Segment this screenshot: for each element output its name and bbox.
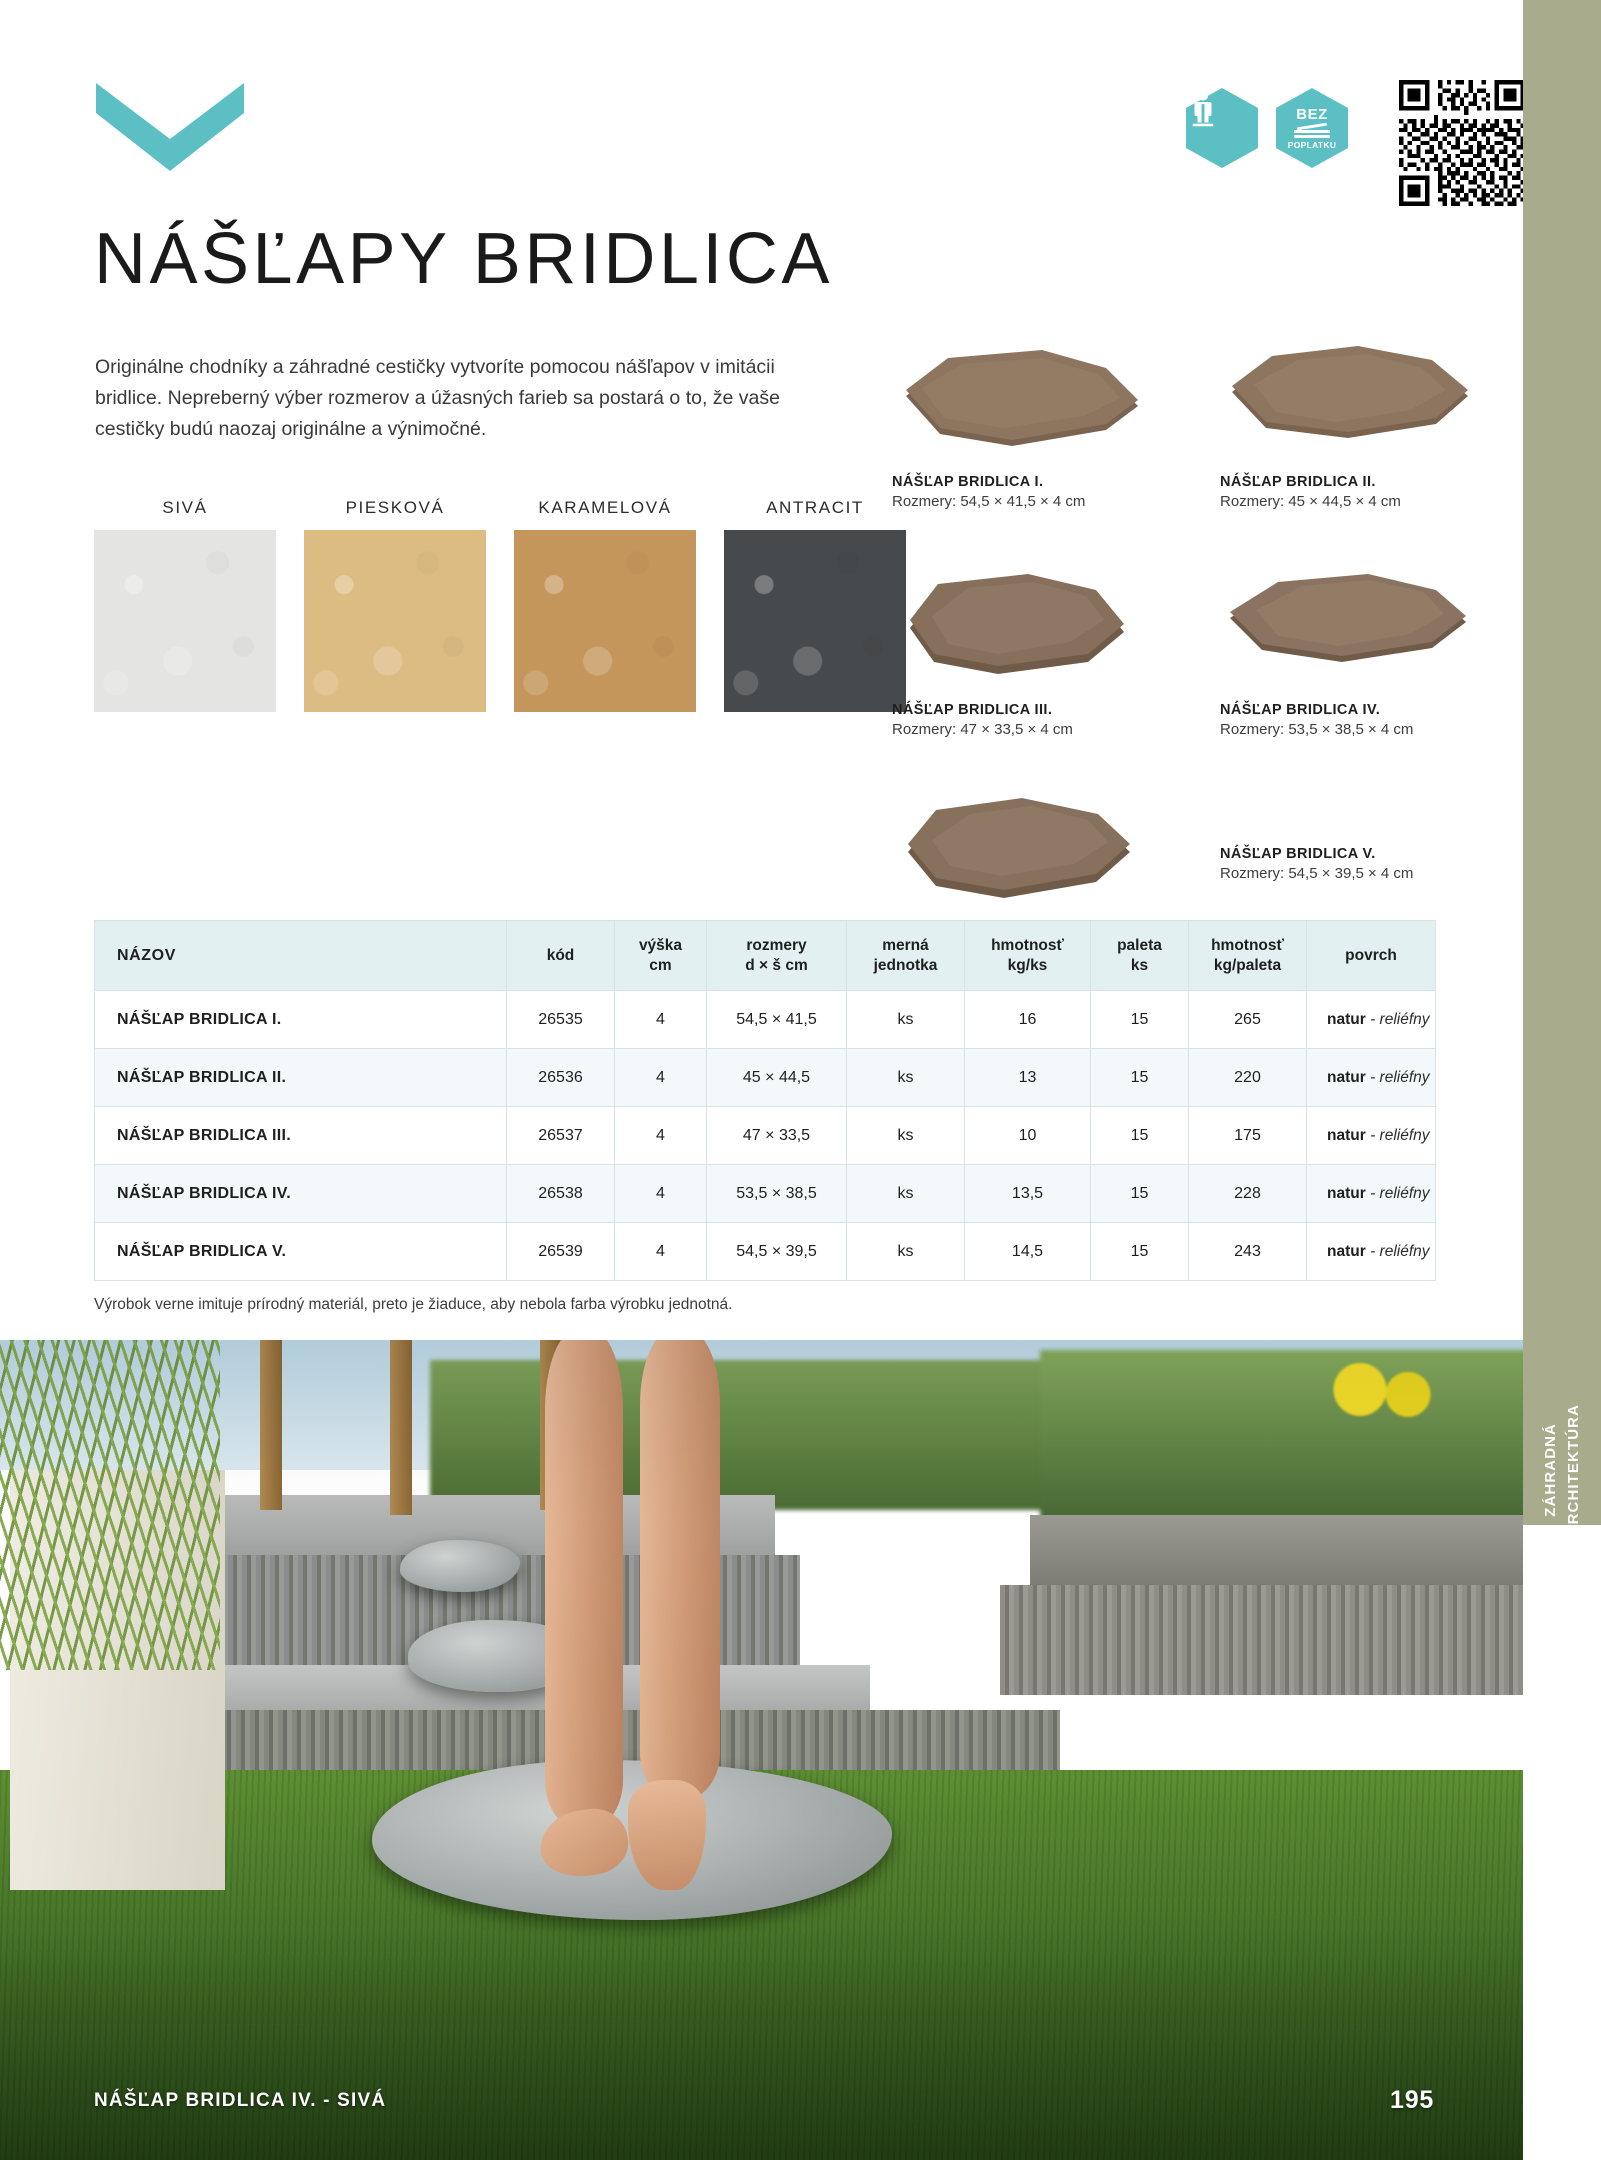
cell-pallet: 15 xyxy=(1091,1049,1189,1107)
cell-pallet-weight: 220 xyxy=(1189,1049,1307,1107)
cell-code: 26539 xyxy=(507,1223,615,1281)
table-row: NÁŠĽAP BRIDLICA II. 26536 4 45 × 44,5 ks… xyxy=(95,1049,1436,1107)
th-weight: hmotnosť kg/ks xyxy=(965,921,1091,991)
product-dims: Rozmery: 47 × 33,5 × 4 cm xyxy=(892,721,1184,738)
swatch-chip xyxy=(514,530,696,712)
cell-unit: ks xyxy=(847,1049,965,1107)
cell-name: NÁŠĽAP BRIDLICA IV. xyxy=(95,1165,507,1223)
cell-height: 4 xyxy=(615,1223,707,1281)
catalog-page: BEZ POPLATKU xyxy=(0,0,1601,2160)
th-pallet-weight: hmotnosť kg/paleta xyxy=(1189,921,1307,991)
cell-name: NÁŠĽAP BRIDLICA I. xyxy=(95,991,507,1049)
stepping-stone xyxy=(400,1540,520,1592)
product-dims: Rozmery: 45 × 44,5 × 4 cm xyxy=(1220,493,1512,510)
cell-dims: 47 × 33,5 xyxy=(707,1107,847,1165)
badge-label-top: BEZ xyxy=(1296,107,1328,122)
product-thumbnail-grid: NÁŠĽAP BRIDLICA I. Rozmery: 54,5 × 41,5 … xyxy=(892,330,1512,934)
surface-finish: - reliéfny xyxy=(1370,1185,1429,1202)
th-pallet-l2: ks xyxy=(1095,956,1184,975)
th-dims: rozmery d × š cm xyxy=(707,921,847,991)
cell-pallet: 15 xyxy=(1091,1107,1189,1165)
cell-code: 26537 xyxy=(507,1107,615,1165)
th-height: výška cm xyxy=(615,921,707,991)
swatch-label: SIVÁ xyxy=(94,498,276,518)
cell-unit: ks xyxy=(847,1223,965,1281)
cell-dims: 53,5 × 38,5 xyxy=(707,1165,847,1223)
product-dims: Rozmery: 53,5 × 38,5 × 4 cm xyxy=(1220,721,1512,738)
cell-code: 26536 xyxy=(507,1049,615,1107)
th-height-l1: výška xyxy=(619,936,702,955)
swatch-label: ANTRACIT xyxy=(724,498,906,518)
page-number: 195 xyxy=(1390,2086,1434,2115)
cell-surface: natur - reliéfny xyxy=(1307,1107,1436,1165)
cell-pallet: 15 xyxy=(1091,1223,1189,1281)
cell-weight: 10 xyxy=(965,1107,1091,1165)
flower-bush xyxy=(1300,1358,1450,1428)
product-name: NÁŠĽAP BRIDLICA IV. xyxy=(1220,702,1512,718)
th-name: NÁZOV xyxy=(95,921,507,991)
stone-photo-4 xyxy=(1220,558,1512,698)
product-dims: Rozmery: 54,5 × 39,5 × 4 cm xyxy=(1220,865,1512,882)
cell-pallet-weight: 175 xyxy=(1189,1107,1307,1165)
cell-unit: ks xyxy=(847,1107,965,1165)
cell-name: NÁŠĽAP BRIDLICA II. xyxy=(95,1049,507,1107)
cell-code: 26538 xyxy=(507,1165,615,1223)
specification-table: NÁZOV kód výška cm rozmery d × š cm mern… xyxy=(94,920,1436,1281)
table-header-row: NÁZOV kód výška cm rozmery d × š cm mern… xyxy=(95,921,1436,991)
cell-dims: 54,5 × 39,5 xyxy=(707,1223,847,1281)
th-code: kód xyxy=(507,921,615,991)
cell-surface: natur - reliéfny xyxy=(1307,991,1436,1049)
stone-photo-5 xyxy=(892,780,1184,920)
intro-paragraph: Originálne chodníky a záhradné cestičky … xyxy=(95,352,835,444)
stone-photo-3 xyxy=(892,558,1184,698)
no-fee-badge: BEZ POPLATKU xyxy=(1276,88,1348,168)
table-row: NÁŠĽAP BRIDLICA V. 26539 4 54,5 × 39,5 k… xyxy=(95,1223,1436,1281)
model-leg-left xyxy=(545,1340,623,1830)
section-rail: ZÁHRADNÁ ARCHITEKTÚRA xyxy=(1523,0,1601,2160)
surface-finish: - reliéfny xyxy=(1370,1069,1429,1086)
th-dims-l1: rozmery xyxy=(711,936,842,955)
table-row: NÁŠĽAP BRIDLICA III. 26537 4 47 × 33,5 k… xyxy=(95,1107,1436,1165)
pallet-bars-icon xyxy=(1294,125,1330,138)
th-unit-l1: merná xyxy=(851,936,960,955)
section-tab-line1: ZÁHRADNÁ xyxy=(1542,1423,1559,1517)
section-tab xyxy=(1523,0,1601,1525)
swatch-chip xyxy=(304,530,486,712)
no-fee-icon: BEZ POPLATKU xyxy=(1276,88,1348,168)
swatch-siva[interactable]: SIVÁ xyxy=(94,498,276,712)
product-dims: Rozmery: 54,5 × 41,5 × 4 cm xyxy=(892,493,1184,510)
swatch-label: KARAMELOVÁ xyxy=(514,498,696,518)
product-name: NÁŠĽAP BRIDLICA II. xyxy=(1220,474,1512,490)
th-weight-l2: kg/ks xyxy=(969,956,1086,975)
cell-name: NÁŠĽAP BRIDLICA III. xyxy=(95,1107,507,1165)
cell-pallet-weight: 243 xyxy=(1189,1223,1307,1281)
swatch-karamelova[interactable]: KARAMELOVÁ xyxy=(514,498,696,712)
product-item-3: NÁŠĽAP BRIDLICA III. Rozmery: 47 × 33,5 … xyxy=(892,558,1184,738)
th-palweight-l1: hmotnosť xyxy=(1193,936,1302,955)
table-footnote: Výrobok verne imituje prírodný materiál,… xyxy=(94,1296,732,1314)
swatch-antracit[interactable]: ANTRACIT xyxy=(724,498,906,712)
surface-type: natur xyxy=(1327,1127,1366,1144)
section-tab-line2: ARCHITEKTÚRA xyxy=(1565,1404,1582,1536)
cell-pallet: 15 xyxy=(1091,1165,1189,1223)
section-tab-label: ZÁHRADNÁ ARCHITEKTÚRA xyxy=(1523,1310,1601,1630)
cell-unit: ks xyxy=(847,1165,965,1223)
colour-swatch-list: SIVÁ PIESKOVÁ KARAMELOVÁ ANTRACIT xyxy=(94,498,906,712)
surface-finish: - reliéfny xyxy=(1370,1243,1429,1260)
surface-type: natur xyxy=(1327,1243,1366,1260)
swatch-chip xyxy=(94,530,276,712)
table-row: NÁŠĽAP BRIDLICA I. 26535 4 54,5 × 41,5 k… xyxy=(95,991,1436,1049)
th-unit: merná jednotka xyxy=(847,921,965,991)
swatch-pieskova[interactable]: PIESKOVÁ xyxy=(304,498,486,712)
cell-weight: 14,5 xyxy=(965,1223,1091,1281)
cell-height: 4 xyxy=(615,1107,707,1165)
person-badge xyxy=(1186,88,1258,168)
cell-surface: natur - reliéfny xyxy=(1307,1049,1436,1107)
cell-weight: 16 xyxy=(965,991,1091,1049)
th-pallet-l1: paleta xyxy=(1095,936,1184,955)
cell-height: 4 xyxy=(615,1165,707,1223)
page-title: NÁŠĽAPY BRIDLICA xyxy=(94,218,833,300)
cell-pallet-weight: 265 xyxy=(1189,991,1307,1049)
surface-type: natur xyxy=(1327,1185,1366,1202)
photo-caption: NÁŠĽAP BRIDLICA IV. - SIVÁ xyxy=(94,2090,386,2112)
product-item-5-caption: NÁŠĽAP BRIDLICA V. Rozmery: 54,5 × 39,5 … xyxy=(1220,780,1512,882)
cell-pallet: 15 xyxy=(1091,991,1189,1049)
badge-label-bottom: POPLATKU xyxy=(1288,141,1337,150)
cell-surface: natur - reliéfny xyxy=(1307,1223,1436,1281)
model-foot-right xyxy=(628,1780,706,1890)
surface-type: natur xyxy=(1327,1011,1366,1028)
surface-type: natur xyxy=(1327,1069,1366,1086)
product-item-4: NÁŠĽAP BRIDLICA IV. Rozmery: 53,5 × 38,5… xyxy=(1220,558,1512,738)
th-height-l2: cm xyxy=(619,956,702,975)
person-icon xyxy=(1186,88,1258,168)
model-leg-right xyxy=(640,1340,720,1800)
product-item-1: NÁŠĽAP BRIDLICA I. Rozmery: 54,5 × 41,5 … xyxy=(892,330,1184,510)
stone-photo-2 xyxy=(1220,330,1512,470)
product-name: NÁŠĽAP BRIDLICA V. xyxy=(1220,846,1512,862)
th-dims-l2: d × š cm xyxy=(711,956,842,975)
cell-height: 4 xyxy=(615,991,707,1049)
cell-code: 26535 xyxy=(507,991,615,1049)
swatch-chip xyxy=(724,530,906,712)
cell-height: 4 xyxy=(615,1049,707,1107)
ornamental-grass xyxy=(0,1340,220,1670)
cell-name: NÁŠĽAP BRIDLICA V. xyxy=(95,1223,507,1281)
th-unit-l2: jednotka xyxy=(851,956,960,975)
cell-dims: 54,5 × 41,5 xyxy=(707,991,847,1049)
stone-photo-1 xyxy=(892,330,1184,470)
cell-unit: ks xyxy=(847,991,965,1049)
th-pallet: paleta ks xyxy=(1091,921,1189,991)
chevron-down-logo-icon xyxy=(96,83,244,171)
surface-finish: - reliéfny xyxy=(1370,1127,1429,1144)
cell-weight: 13,5 xyxy=(965,1165,1091,1223)
th-weight-l1: hmotnosť xyxy=(969,936,1086,955)
swatch-label: PIESKOVÁ xyxy=(304,498,486,518)
product-name: NÁŠĽAP BRIDLICA I. xyxy=(892,474,1184,490)
surface-finish: - reliéfny xyxy=(1370,1011,1429,1028)
qr-code-icon[interactable] xyxy=(1399,80,1525,206)
lifestyle-photo xyxy=(0,1340,1523,2160)
cell-pallet-weight: 228 xyxy=(1189,1165,1307,1223)
th-palweight-l2: kg/paleta xyxy=(1193,956,1302,975)
cell-dims: 45 × 44,5 xyxy=(707,1049,847,1107)
header-badges: BEZ POPLATKU xyxy=(1186,88,1348,168)
cell-weight: 13 xyxy=(965,1049,1091,1107)
product-name: NÁŠĽAP BRIDLICA III. xyxy=(892,702,1184,718)
cell-surface: natur - reliéfny xyxy=(1307,1165,1436,1223)
product-item-5 xyxy=(892,780,1184,920)
th-surface: povrch xyxy=(1307,921,1436,991)
product-item-2: NÁŠĽAP BRIDLICA II. Rozmery: 45 × 44,5 ×… xyxy=(1220,330,1512,510)
table-row: NÁŠĽAP BRIDLICA IV. 26538 4 53,5 × 38,5 … xyxy=(95,1165,1436,1223)
